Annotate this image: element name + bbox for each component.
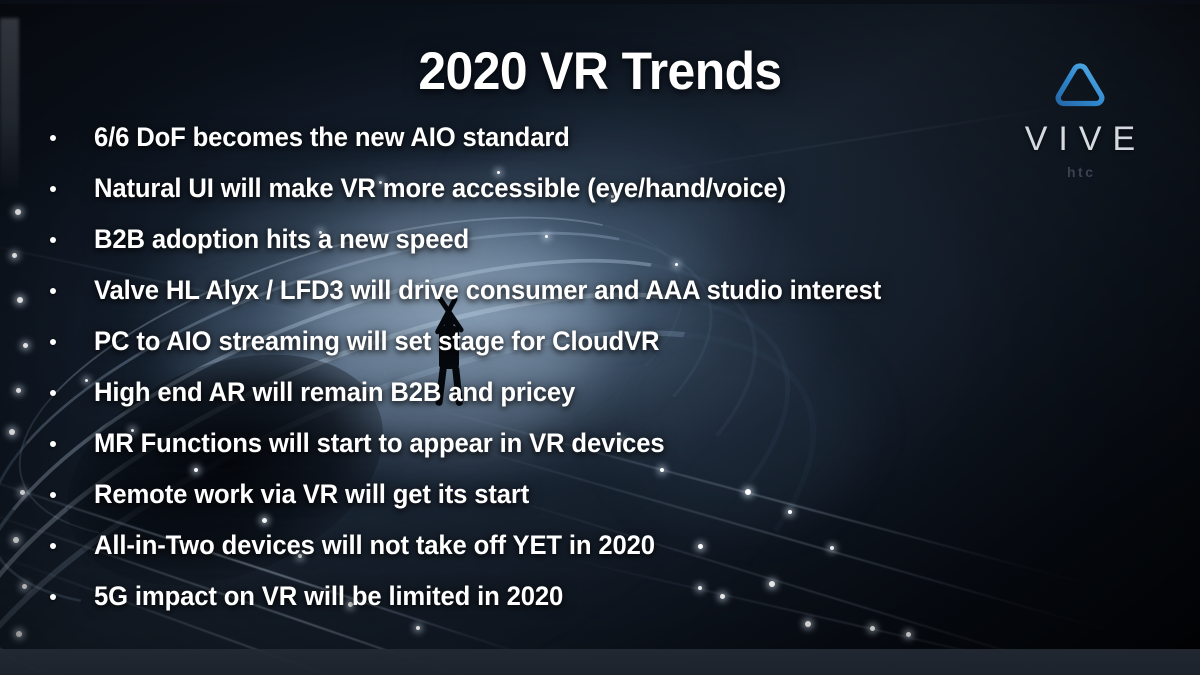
vive-wordmark: VIVE: [1014, 122, 1146, 156]
list-item-label: PC to AIO streaming will set stage for C…: [94, 326, 659, 357]
list-item-label: B2B adoption hits a new speed: [94, 224, 469, 255]
bullet-dot-icon: [50, 135, 56, 141]
htc-wordmark: htc: [1065, 165, 1096, 179]
bullet-dot-icon: [50, 441, 56, 447]
bullet-dot-icon: [50, 543, 56, 549]
list-item: MR Functions will start to appear in VR …: [0, 418, 1010, 469]
bullet-dot-icon: [50, 390, 56, 396]
list-item-label: MR Functions will start to appear in VR …: [94, 428, 665, 459]
page-title: 2020 VR Trends: [36, 41, 1164, 102]
bullet-dot-icon: [50, 186, 56, 192]
list-item: Valve HL Alyx / LFD3 will drive consumer…: [0, 265, 1010, 316]
list-item: All-in-Two devices will not take off YET…: [0, 520, 1010, 571]
bullet-dot-icon: [50, 237, 56, 243]
bullet-dot-icon: [50, 288, 56, 294]
trends-bullet-list: 6/6 DoF becomes the new AIO standardNatu…: [0, 112, 1010, 622]
vive-triangle-icon: [1052, 62, 1108, 110]
list-item-label: All-in-Two devices will not take off YET…: [94, 530, 655, 561]
list-item: 6/6 DoF becomes the new AIO standard: [0, 112, 1010, 163]
list-item: PC to AIO streaming will set stage for C…: [0, 316, 1010, 367]
list-item: 5G impact on VR will be limited in 2020: [0, 571, 1010, 622]
list-item-label: 5G impact on VR will be limited in 2020: [94, 581, 563, 612]
list-item-label: Natural UI will make VR more accessible …: [94, 173, 786, 204]
bullet-dot-icon: [50, 492, 56, 498]
list-item: Remote work via VR will get its start: [0, 469, 1010, 520]
list-item-label: 6/6 DoF becomes the new AIO standard: [94, 122, 570, 153]
list-item: B2B adoption hits a new speed: [0, 214, 1010, 265]
bullet-dot-icon: [50, 594, 56, 600]
vive-brand-lockup: VIVE htc: [1005, 62, 1155, 179]
bullet-dot-icon: [50, 339, 56, 345]
list-item-label: Valve HL Alyx / LFD3 will drive consumer…: [94, 275, 881, 306]
list-item-label: High end AR will remain B2B and pricey: [94, 377, 575, 408]
list-item: Natural UI will make VR more accessible …: [0, 163, 1010, 214]
presentation-slide: 2020 VR Trends 6/6 DoF becomes the new A…: [0, 0, 1200, 675]
list-item: High end AR will remain B2B and pricey: [0, 367, 1010, 418]
list-item-label: Remote work via VR will get its start: [94, 479, 529, 510]
